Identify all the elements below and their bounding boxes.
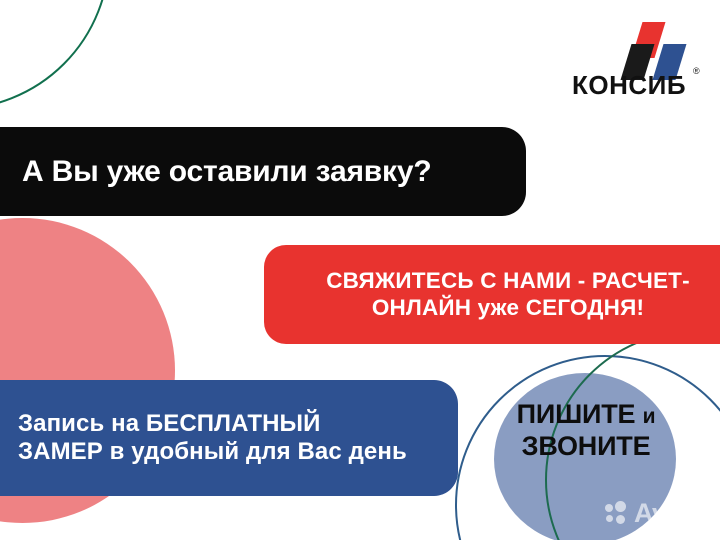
circle-callout-line-2: ЗВОНИТЕ bbox=[494, 431, 678, 463]
banner-contact-line-2: ОНЛАЙН уже СЕГОДНЯ! bbox=[286, 295, 720, 322]
banner-free-measurement: Запись на БЕСПЛАТНЫЙ ЗАМЕР в удобный для… bbox=[0, 380, 458, 496]
banner-contact: СВЯЖИТЕСЬ С НАМИ - РАСЧЕТ- ОНЛАЙН уже СЕ… bbox=[264, 245, 720, 344]
circle-callout: ПИШИТЕ и ЗВОНИТЕ bbox=[494, 399, 678, 462]
registered-trademark-icon: ® bbox=[693, 66, 700, 76]
logo-wordmark: КОНСИБ bbox=[554, 70, 704, 101]
circle-callout-line-1: ПИШИТЕ и bbox=[494, 399, 678, 431]
logo-mark-icon bbox=[554, 22, 704, 72]
circle-callout-conjunction: и bbox=[643, 405, 656, 428]
banner-contact-line-1: СВЯЖИТЕСЬ С НАМИ - РАСЧЕТ- bbox=[286, 268, 720, 295]
circle-callout-word-write: ПИШИТЕ bbox=[517, 399, 636, 429]
banner-free-measurement-line-2: ЗАМЕР в удобный для Вас день bbox=[18, 438, 442, 466]
decorative-ring-top-left bbox=[0, 0, 110, 110]
banner-question-text: А Вы уже оставили заявку? bbox=[22, 154, 508, 189]
banner-question: А Вы уже оставили заявку? bbox=[0, 127, 526, 216]
brand-logo: КОНСИБ ® bbox=[554, 22, 704, 104]
promo-poster: КОНСИБ ® А Вы уже оставили заявку? СВЯЖИ… bbox=[0, 0, 720, 540]
banner-free-measurement-line-1: Запись на БЕСПЛАТНЫЙ bbox=[18, 410, 442, 438]
